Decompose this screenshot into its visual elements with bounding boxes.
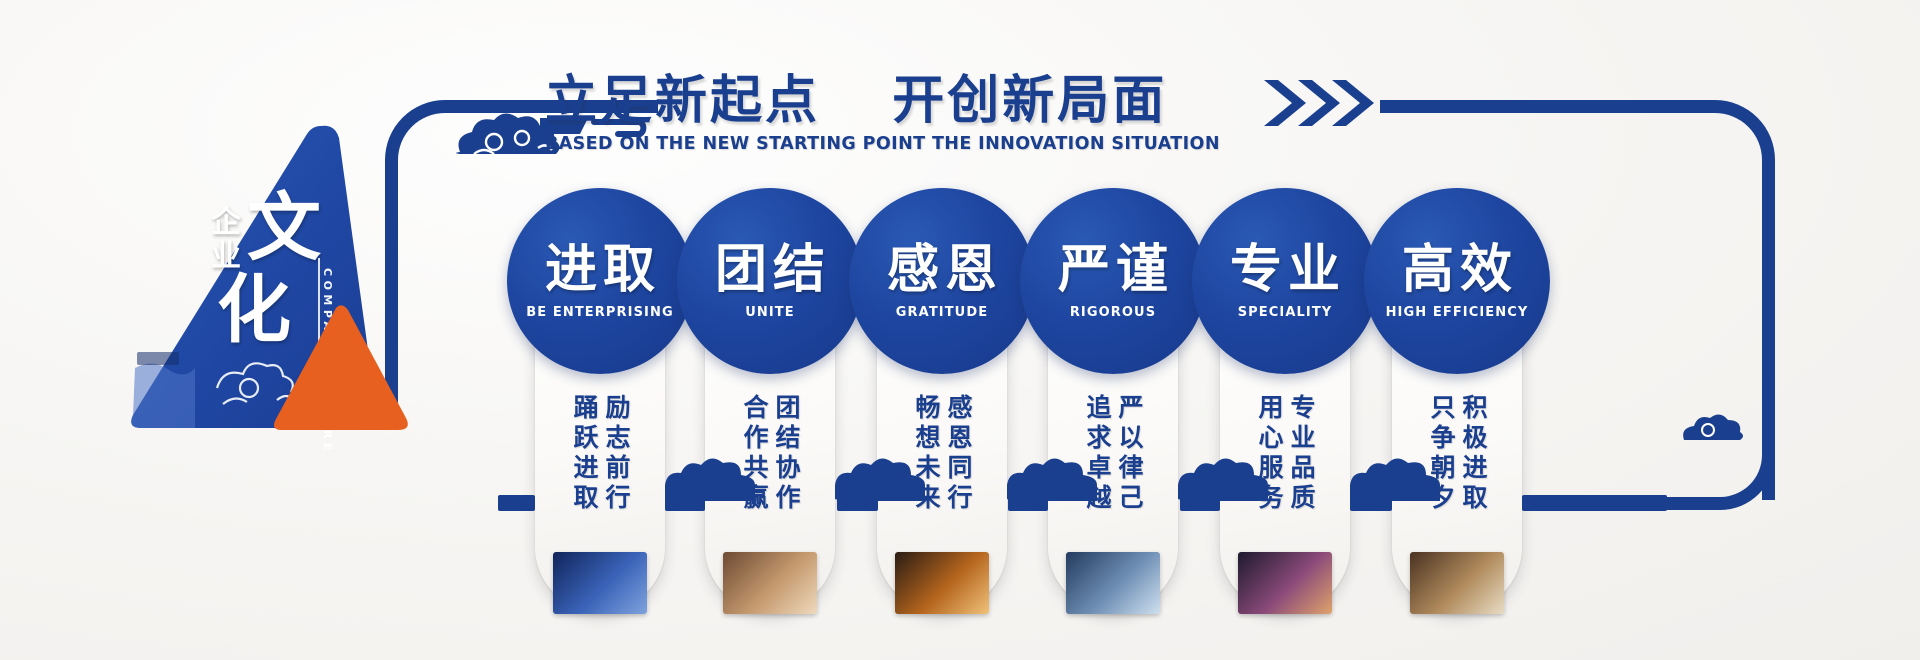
- headline-cn-part2: 开创新局面: [892, 71, 1167, 131]
- badge-en-label: RIGOROUS: [1070, 305, 1156, 320]
- chinese-cloud-icon: [1680, 410, 1750, 446]
- badge-cn-label: 专业: [1224, 242, 1346, 298]
- logo-cn-small: 企业: [209, 206, 243, 274]
- badge-cn-label: 进取: [539, 242, 661, 298]
- badge-motto-right: 严以律己: [1116, 394, 1142, 544]
- badge-photo: [1238, 552, 1332, 614]
- badge-circle-6: 高效HIGH EFFICIENCY: [1364, 188, 1550, 374]
- badge-photo: [895, 552, 989, 614]
- frame-top-right-bar: [1380, 100, 1670, 113]
- baseline-bar-segment-3: [837, 495, 878, 511]
- badge-en-label: GRATITUDE: [896, 305, 988, 320]
- badge-capsule-2[interactable]: 团结UNITE团结协作合作共赢: [705, 222, 835, 612]
- badge-photo: [1066, 552, 1160, 614]
- badge-capsule-4[interactable]: 严谨RIGOROUS严以律己追求卓越: [1048, 222, 1178, 612]
- baseline-bar-segment-6: [1350, 495, 1392, 511]
- badge-circle-3: 感恩GRATITUDE: [849, 188, 1035, 374]
- baseline-bar-segment-1: [498, 495, 535, 511]
- headline-cn-part1: 立足新起点: [545, 71, 820, 131]
- badge-motto-right: 团结协作: [773, 394, 799, 544]
- badge-capsule-3[interactable]: 感恩GRATITUDE感恩同行畅想未来: [877, 222, 1007, 612]
- baseline-bar-segment-5: [1180, 495, 1220, 511]
- badge-circle-2: 团结UNITE: [677, 188, 863, 374]
- badge-photo: [1410, 552, 1504, 614]
- culture-wall: 企业 文 化 COMPANY CULTURE 立足新起点 开创新局面 BASED…: [0, 0, 1920, 660]
- badge-capsule-6[interactable]: 高效HIGH EFFICIENCY积极进取只争朝夕: [1392, 222, 1522, 612]
- headline-en: BASED ON THE NEW STARTING POINT THE INNO…: [545, 134, 1245, 154]
- badge-cn-label: 感恩: [881, 242, 1003, 298]
- badge-motto-right: 感恩同行: [945, 394, 971, 544]
- badge-capsule-1[interactable]: 进取BE ENTERPRISING励志前行踊跃进取: [535, 222, 665, 612]
- badge-circle-1: 进取BE ENTERPRISING: [507, 188, 693, 374]
- badge-motto-right: 专业品质: [1288, 394, 1314, 544]
- badge-cn-label: 高效: [1396, 242, 1518, 298]
- badge-capsule-5[interactable]: 专业SPECIALITY专业品质用心服务: [1220, 222, 1350, 612]
- badge-motto-right: 励志前行: [603, 394, 629, 544]
- badge-cn-label: 严谨: [1052, 242, 1174, 298]
- headline-block: 立足新起点 开创新局面 BASED ON THE NEW STARTING PO…: [545, 72, 1245, 154]
- badge-circle-4: 严谨RIGOROUS: [1020, 188, 1206, 374]
- badge-circle-5: 专业SPECIALITY: [1192, 188, 1378, 374]
- baseline-bar-segment-2: [665, 495, 705, 511]
- logo-corner-plate: [137, 352, 179, 365]
- badge-motto-right: 积极进取: [1460, 394, 1486, 544]
- badge-en-label: SPECIALITY: [1238, 305, 1333, 320]
- badge-photo: [553, 552, 647, 614]
- badge-cn-label: 团结: [709, 242, 831, 298]
- badge-motto-block: 励志前行踊跃进取: [535, 394, 665, 544]
- badge-en-label: HIGH EFFICIENCY: [1386, 305, 1529, 320]
- badge-en-label: UNITE: [745, 305, 795, 320]
- badge-en-label: BE ENTERPRISING: [526, 305, 673, 320]
- logo-cn-wen: 文: [247, 190, 321, 266]
- badge-motto-left: 踊跃进取: [571, 394, 597, 544]
- orange-triangle-icon: [270, 300, 410, 440]
- baseline-bar-segment-7: [1522, 495, 1667, 511]
- headline-cn: 立足新起点 开创新局面: [545, 72, 1245, 130]
- badge-photo: [723, 552, 817, 614]
- baseline-bar-segment-4: [1008, 495, 1048, 511]
- chevron-arrows-icon: [1262, 78, 1382, 128]
